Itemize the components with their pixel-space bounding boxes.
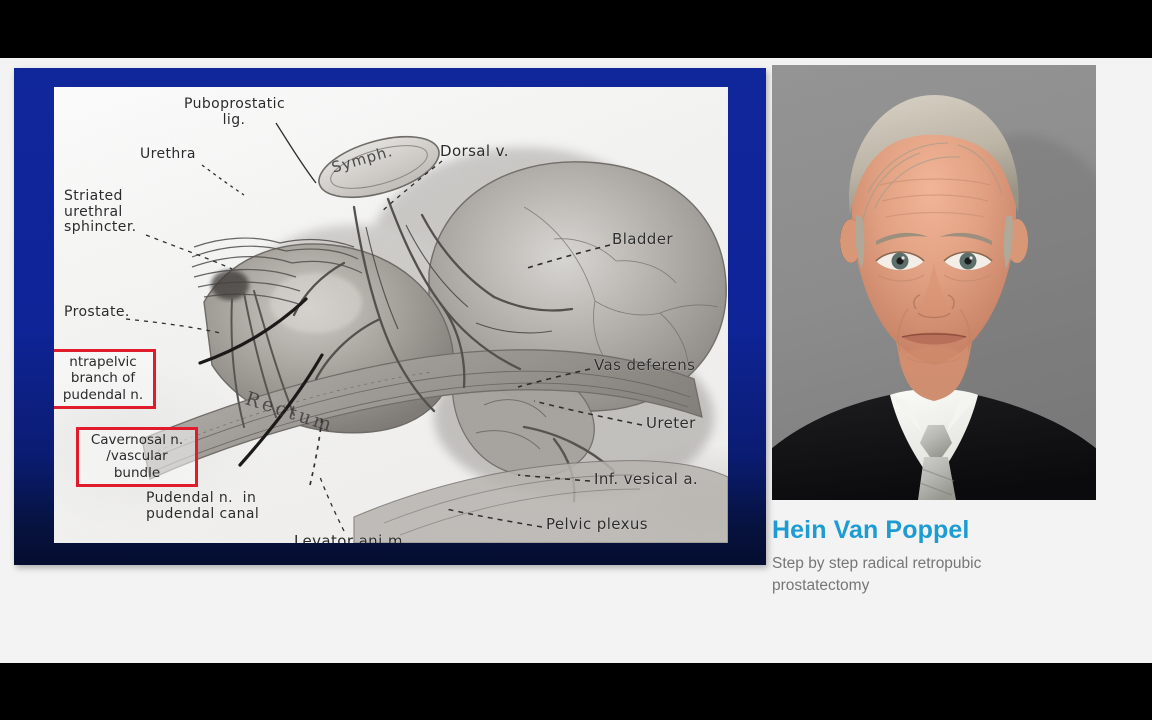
label-pudendal-canal: Pudendal n. in pudendal canal	[146, 491, 259, 522]
label-ureter: Ureter	[646, 415, 696, 432]
label-urethra: Urethra	[140, 147, 196, 163]
speaker-talk-title: Step by step radical retropubic prostate…	[772, 553, 1022, 597]
speaker-panel: Hein Van Poppel Step by step radical ret…	[772, 65, 1096, 597]
slide-frame[interactable]: Puboprostatic lig. Urethra Striated uret…	[14, 68, 766, 565]
speaker-portrait-photo	[772, 65, 1096, 500]
label-pelvic-plexus: Pelvic plexus	[546, 516, 648, 533]
anatomy-illustration: Puboprostatic lig. Urethra Striated uret…	[54, 87, 728, 543]
label-levator-ani-m: Levator ani m.	[294, 533, 408, 543]
screenshot-root: Puboprostatic lig. Urethra Striated uret…	[0, 0, 1152, 720]
label-bladder: Bladder	[612, 231, 673, 248]
portrait-drawing	[772, 65, 1096, 500]
label-inf-vesical-a: Inf. vesical a.	[594, 471, 698, 488]
label-striated-urethral-sphincter: Striated urethral sphincter.	[64, 189, 137, 236]
letterbox-bar-top	[0, 0, 1152, 58]
slide-content-area: Puboprostatic lig. Urethra Striated uret…	[54, 87, 728, 543]
label-prostate: Prostate.	[64, 305, 130, 321]
speaker-name: Hein Van Poppel	[772, 517, 1096, 545]
boxed-label-intrapelvic-branch-pudendal: ntrapelvic branch of pudendal n.	[54, 349, 156, 409]
letterbox-bar-bottom	[0, 663, 1152, 720]
boxed-label-cavernosal-vascular-bundle: Cavernosal n. /vascular bundle	[76, 427, 198, 487]
presentation-canvas: Puboprostatic lig. Urethra Striated uret…	[0, 58, 1152, 663]
label-dorsal-v: Dorsal v.	[440, 143, 509, 160]
label-puboprostatic-lig: Puboprostatic lig.	[184, 97, 284, 128]
label-vas-deferens: Vas deferens	[594, 357, 695, 374]
